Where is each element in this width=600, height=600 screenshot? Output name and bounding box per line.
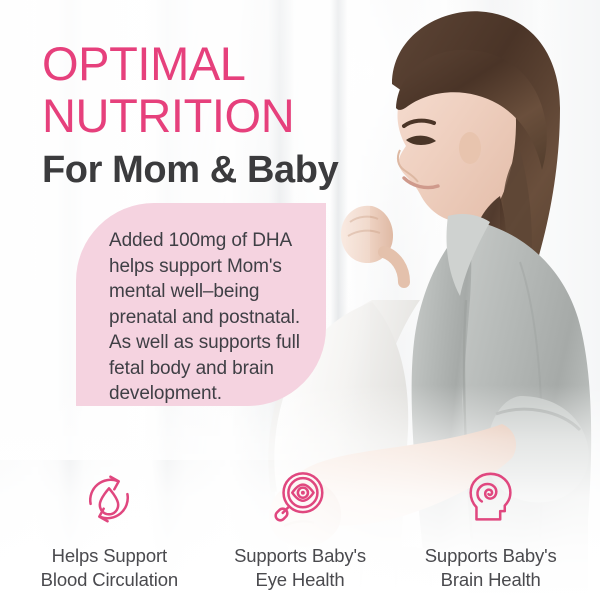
feature-label: Supports Baby's Brain Health (425, 544, 557, 592)
blood-circulation-droplet-icon (78, 468, 140, 530)
wrist (384, 252, 404, 282)
feature-label: Supports Baby's Eye Health (234, 544, 366, 592)
feature-item-eye-health[interactable]: Supports Baby's Eye Health (205, 468, 396, 592)
feature-item-brain-health[interactable]: Supports Baby's Brain Health (395, 468, 586, 592)
head-brain-spiral-icon (460, 468, 522, 530)
ear (459, 132, 481, 164)
callout-body-text: Added 100mg of DHA helps support Mom's m… (109, 228, 334, 407)
feature-label: Helps Support Blood Circulation (41, 544, 178, 592)
feature-item-blood-circulation[interactable]: Helps Support Blood Circulation (14, 468, 205, 592)
optimal-nutrition-poster: OPTIMAL NUTRITION For Mom & Baby Added 1… (0, 0, 600, 600)
headline-line-2: NUTRITION (42, 90, 382, 142)
feature-row: Helps Support Blood Circulation Supports… (0, 468, 600, 592)
headline-block: OPTIMAL NUTRITION For Mom & Baby (42, 38, 382, 191)
headline-subhead: For Mom & Baby (42, 149, 382, 191)
magnifier-eye-icon (269, 468, 331, 530)
headline-line-1: OPTIMAL (42, 38, 382, 90)
